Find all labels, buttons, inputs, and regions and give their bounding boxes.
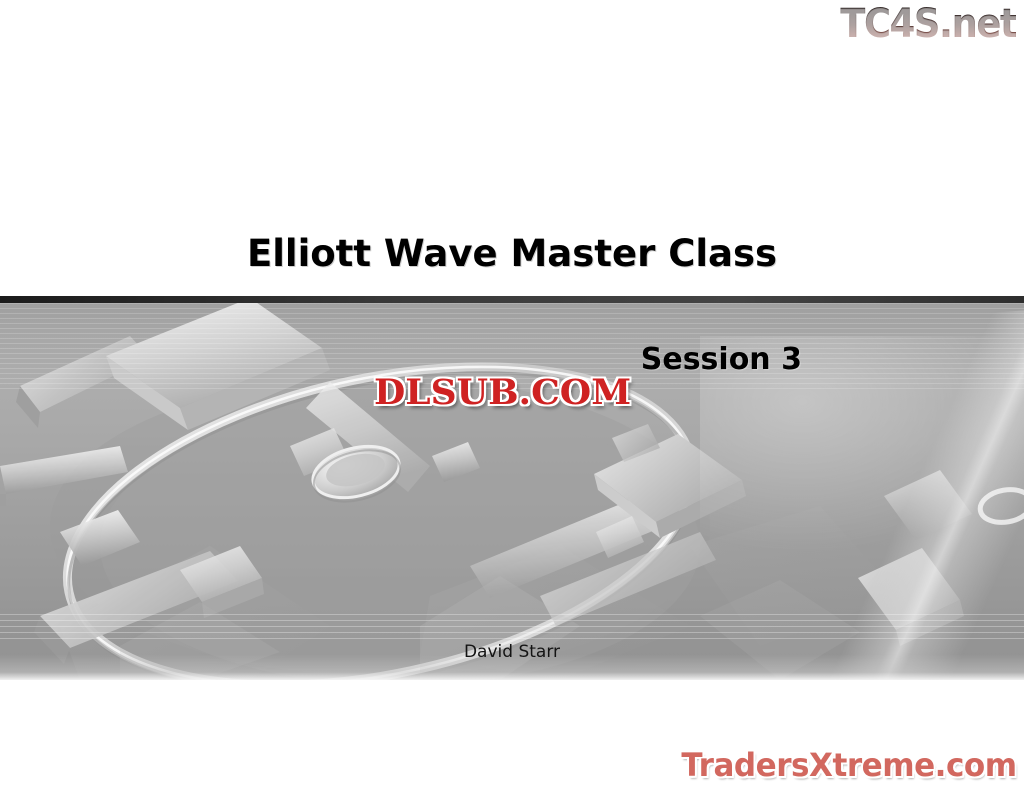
banner-lower-stripes [0, 614, 1024, 640]
author-name: David Starr [0, 641, 1024, 663]
page-title: Elliott Wave Master Class [0, 232, 1024, 276]
presentation-slide: TC4S.net Elliott Wave Master Class [0, 0, 1024, 791]
dlsub-watermark: DLSUB.COM [374, 373, 631, 413]
tc4s-watermark: TC4S.net [840, 2, 1016, 46]
banner-top-bar [0, 296, 1024, 303]
tradersxtreme-watermark: TradersXtreme.com [682, 746, 1017, 784]
